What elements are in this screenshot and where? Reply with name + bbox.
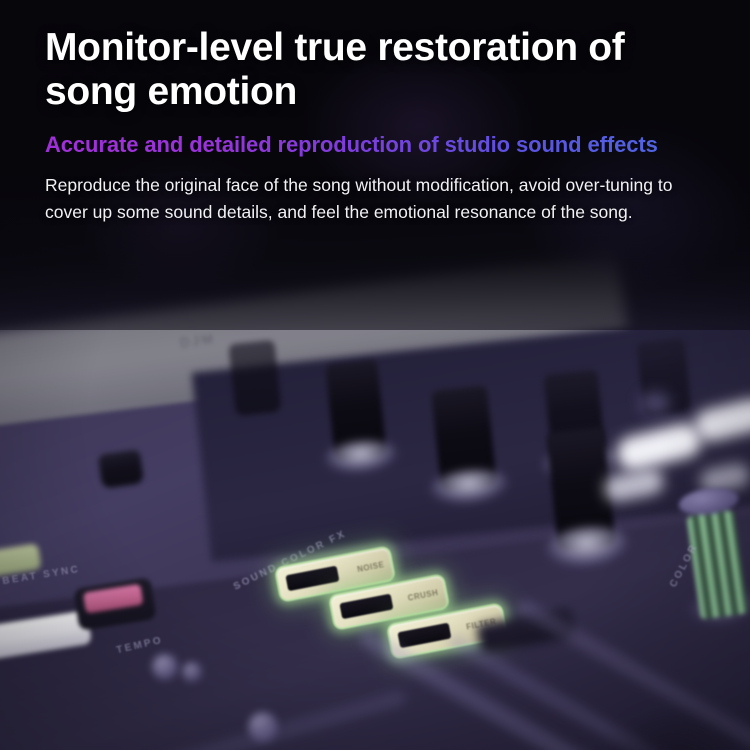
promo-banner: DJM xyxy=(0,0,750,750)
page-description: Reproduce the original face of the song … xyxy=(45,172,706,225)
copy-block: Monitor-level true restoration of song e… xyxy=(0,0,750,225)
page-title: Monitor-level true restoration of song e… xyxy=(45,26,705,115)
page-subtitle: Accurate and detailed reproduction of st… xyxy=(45,131,705,159)
